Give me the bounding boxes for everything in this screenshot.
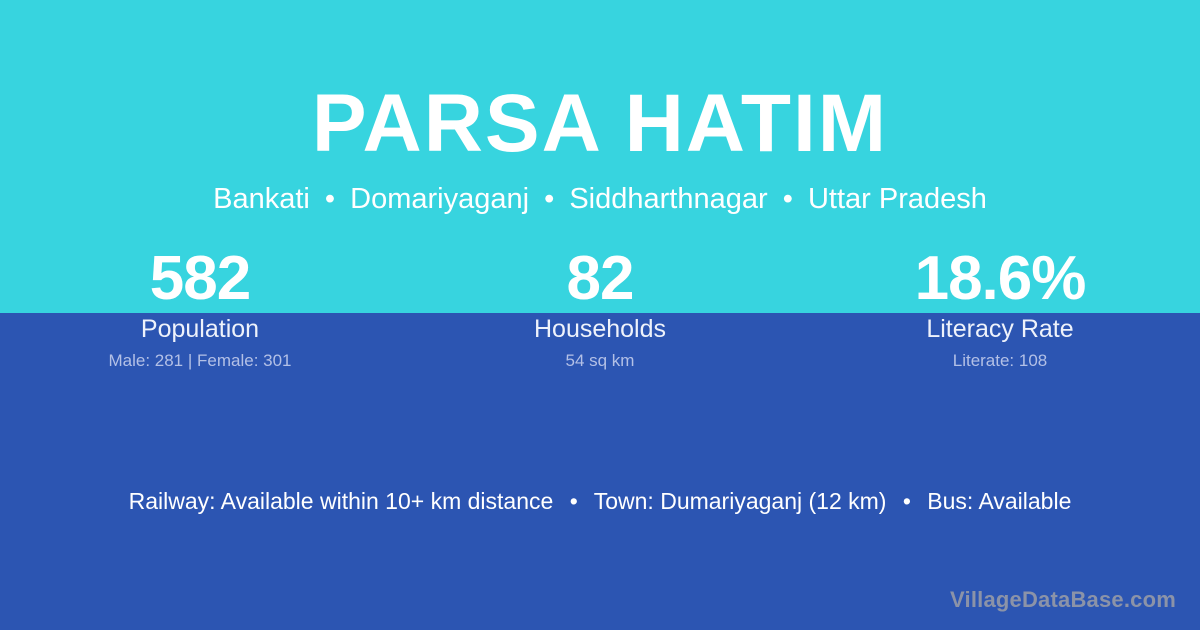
stat-value: 18.6% (800, 246, 1200, 313)
stat-value: 82 (400, 246, 800, 313)
stat-sublabel: 54 sq km (400, 350, 800, 372)
stat-label: Households (400, 314, 800, 344)
amenity-town: Town: Dumariyaganj (12 km) (594, 488, 887, 514)
stat-sublabel: Literate: 108 (800, 350, 1200, 372)
breadcrumb-item-district: Siddharthnagar (569, 183, 767, 215)
breadcrumb-item-block: Bankati (213, 183, 310, 215)
amenity-bus: Bus: Available (927, 488, 1071, 514)
breadcrumb-item-tehsil: Domariyaganj (350, 183, 529, 215)
stat-label: Literacy Rate (800, 314, 1200, 344)
page-title: PARSA HATIM (0, 80, 1200, 168)
amenity-separator: • (560, 488, 588, 514)
site-watermark: VillageDataBase.com (950, 586, 1176, 614)
stat-sublabel: Male: 281 | Female: 301 (0, 350, 400, 372)
amenity-railway: Railway: Available within 10+ km distanc… (129, 488, 554, 514)
stat-households: 82 Households 54 sq km (400, 246, 800, 372)
breadcrumb-separator: • (776, 183, 800, 215)
stats-row: 582 Population Male: 281 | Female: 301 8… (0, 246, 1200, 372)
stat-label: Population (0, 314, 400, 344)
breadcrumb-separator: • (318, 183, 342, 215)
breadcrumb-item-state: Uttar Pradesh (808, 183, 987, 215)
stat-value: 582 (0, 246, 400, 313)
breadcrumb: Bankati • Domariyaganj • Siddharthnagar … (0, 181, 1200, 217)
amenities-line: Railway: Available within 10+ km distanc… (0, 486, 1200, 516)
breadcrumb-separator: • (537, 183, 561, 215)
village-info-card: PARSA HATIM Bankati • Domariyaganj • Sid… (0, 0, 1200, 630)
stat-population: 582 Population Male: 281 | Female: 301 (0, 246, 400, 372)
amenity-separator: • (893, 488, 921, 514)
stat-literacy-rate: 18.6% Literacy Rate Literate: 108 (800, 246, 1200, 372)
